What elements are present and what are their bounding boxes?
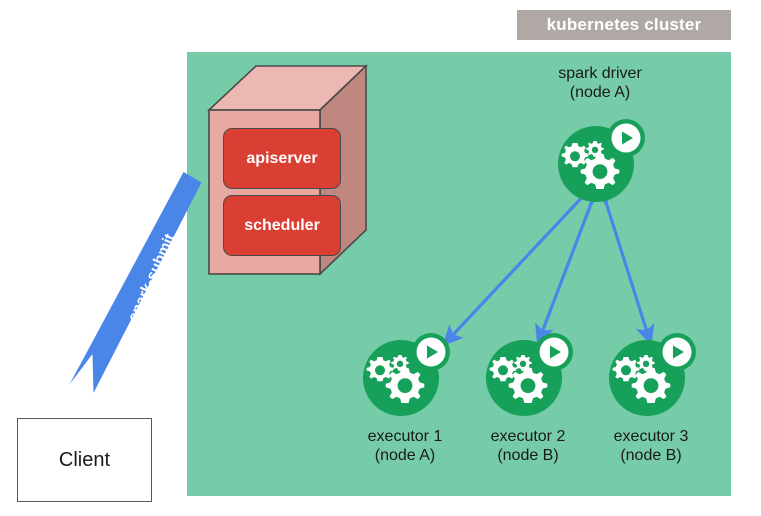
node-executor-3-label: executor 3 (node B) bbox=[585, 427, 717, 465]
node-spark-driver-placement: (node A) bbox=[534, 83, 666, 102]
component-scheduler[interactable]: scheduler bbox=[223, 195, 341, 256]
node-executor-3-name: executor 3 bbox=[585, 427, 717, 446]
component-apiserver[interactable]: apiserver bbox=[223, 128, 341, 189]
node-executor-1-name: executor 1 bbox=[339, 427, 471, 446]
gears-play-icon bbox=[552, 116, 648, 204]
node-executor-2[interactable] bbox=[480, 330, 576, 418]
node-executor-1[interactable] bbox=[357, 330, 453, 418]
node-spark-driver-name: spark driver bbox=[534, 64, 666, 83]
gears-play-icon bbox=[480, 330, 576, 418]
node-executor-2-name: executor 2 bbox=[462, 427, 594, 446]
node-executor-2-placement: (node B) bbox=[462, 446, 594, 465]
node-spark-driver-label: spark driver (node A) bbox=[534, 64, 666, 102]
cluster-badge: kubernetes cluster bbox=[517, 10, 731, 40]
component-apiserver-label: apiserver bbox=[246, 150, 317, 168]
node-executor-2-label: executor 2 (node B) bbox=[462, 427, 594, 465]
component-scheduler-label: scheduler bbox=[244, 217, 320, 235]
gears-play-icon bbox=[603, 330, 699, 418]
node-spark-driver[interactable] bbox=[552, 116, 648, 204]
gears-play-icon bbox=[357, 330, 453, 418]
control-plane-cube: apiserver scheduler bbox=[198, 62, 370, 280]
client-label: Client bbox=[59, 449, 110, 472]
node-executor-3[interactable] bbox=[603, 330, 699, 418]
spark-submit-label: spark-submit bbox=[118, 219, 185, 337]
node-executor-1-placement: (node A) bbox=[339, 446, 471, 465]
node-executor-1-label: executor 1 (node A) bbox=[339, 427, 471, 465]
client-box[interactable]: Client bbox=[17, 418, 152, 502]
cluster-badge-label: kubernetes cluster bbox=[547, 15, 702, 35]
node-executor-3-placement: (node B) bbox=[585, 446, 717, 465]
